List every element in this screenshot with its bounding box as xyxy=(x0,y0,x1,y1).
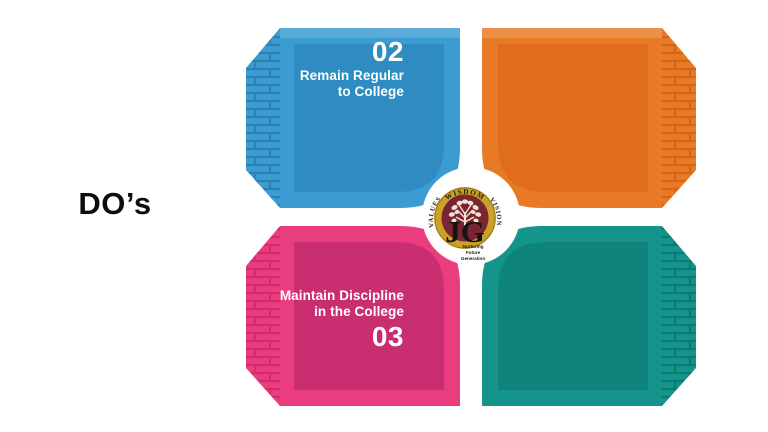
logo-tagline-line1: Nurturing xyxy=(463,244,484,249)
quadrant-label-03-line2: in the College xyxy=(232,304,404,320)
jg-college-logo: WISDOM VALUES VISION JG Nurturing Future… xyxy=(417,172,513,268)
page-title: DO’s xyxy=(0,188,230,219)
slide-canvas: DO’s xyxy=(0,0,768,432)
quadrant-label-02-line1: Remain Regular xyxy=(238,68,404,84)
quadrant-label-04-line2: Instructions given xyxy=(68,288,228,304)
quadrant-top-right[interactable] xyxy=(482,28,696,208)
quadrant-label-03-line1: Maintain Discipline xyxy=(232,288,404,304)
quadrant-number-04: 04 xyxy=(68,323,228,351)
quadrant-number-02: 02 xyxy=(238,38,404,66)
quadrant-text-04: Strictly Obey Instructions given by Coll… xyxy=(68,272,228,351)
quadrant-number-03: 03 xyxy=(232,323,404,351)
quadrant-text-02: 02 Remain Regular to College xyxy=(238,38,404,101)
logo-tagline-line2: Future xyxy=(466,250,481,255)
quadrant-label-04-line3: by College xyxy=(68,305,228,321)
quadrant-label-01-line2: Compulsory xyxy=(68,84,208,100)
quadrant-text-03: Maintain Discipline in the College 03 xyxy=(232,288,404,351)
quadrant-number-01: 01 xyxy=(68,38,208,66)
quadrant-bottom-right[interactable] xyxy=(482,226,696,406)
logo-tagline-line3: Generation xyxy=(461,256,485,261)
quadrant-label-04-line1: Strictly Obey xyxy=(68,272,228,288)
quadrant-label-01-line1: ID Card xyxy=(68,68,208,84)
quadrant-label-02-line2: to College xyxy=(238,84,404,100)
quadrant-text-01: 01 ID Card Compulsory xyxy=(68,38,208,101)
